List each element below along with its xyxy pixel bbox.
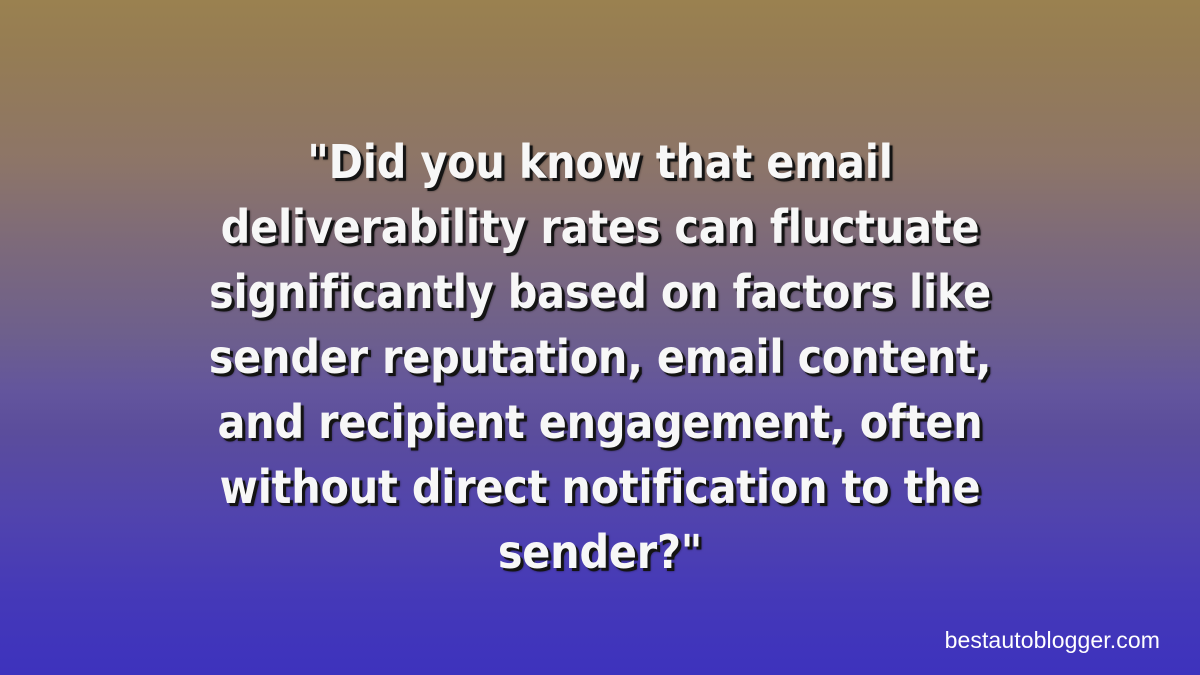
quote-line-4: sender reputation, email content, [92, 325, 1108, 390]
quote-line-3: significantly based on factors like [92, 260, 1108, 325]
quote-line-5: and recipient engagement, often [92, 390, 1108, 455]
quote-card: "Did you know that email deliverability … [0, 0, 1200, 675]
quote-text-block: "Did you know that email deliverability … [0, 130, 1200, 585]
quote-line-1: "Did you know that email [92, 130, 1108, 195]
quote-line-7: sender?" [92, 520, 1108, 585]
site-watermark: bestautoblogger.com [945, 627, 1160, 653]
quote-line-6: without direct notification to the [92, 455, 1108, 520]
quote-line-2: deliverability rates can fluctuate [92, 195, 1108, 260]
